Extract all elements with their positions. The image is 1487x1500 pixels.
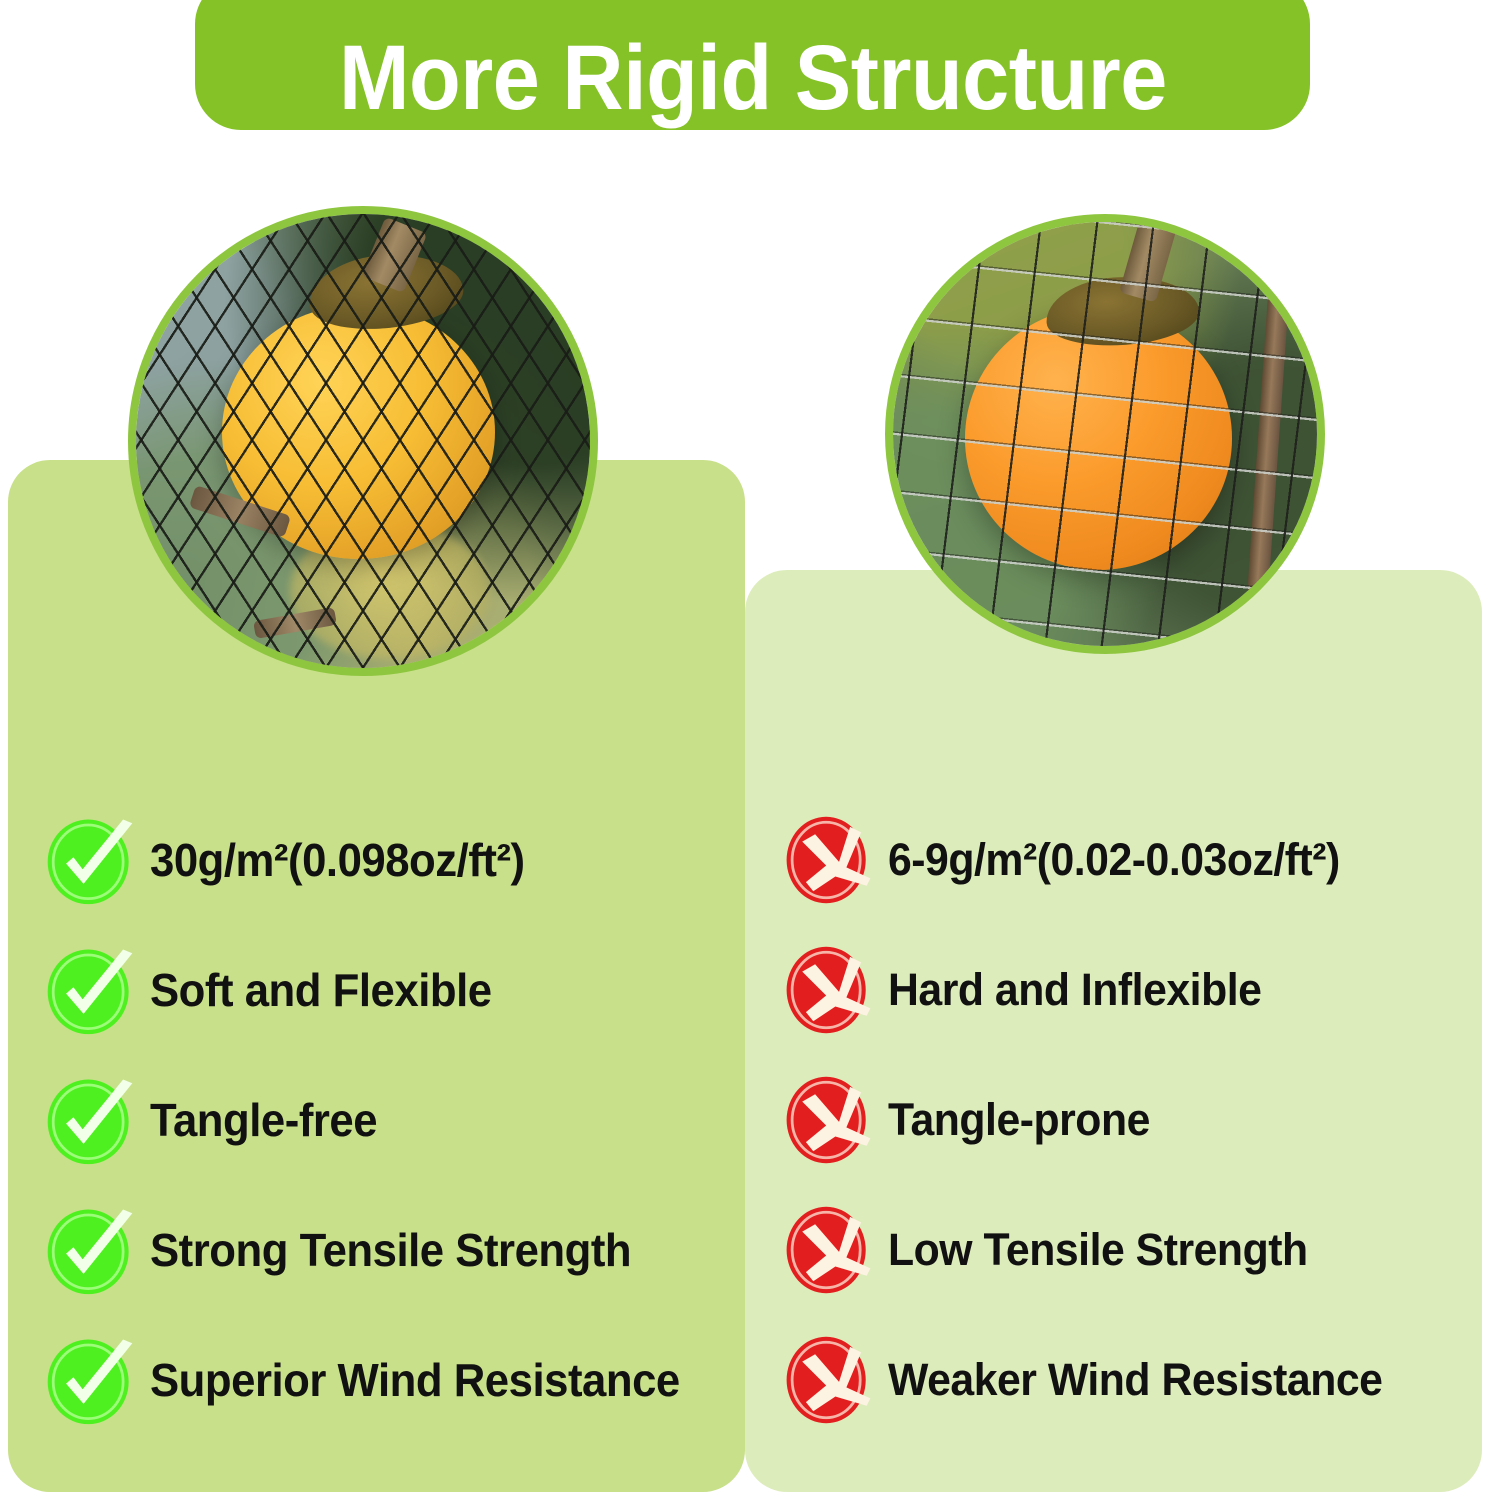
list-item: Soft and Flexible (44, 925, 744, 1055)
photo-right-content (893, 222, 1317, 646)
check-icon (44, 1074, 136, 1166)
cross-icon (782, 1334, 874, 1426)
list-item: Superior Wind Resistance (44, 1315, 744, 1445)
list-item-label: Low Tensile Strength (888, 1224, 1308, 1276)
check-icon (44, 1204, 136, 1296)
list-item: 30g/m²(0.098oz/ft²) (44, 795, 744, 925)
photo-circle-right (885, 214, 1325, 654)
list-item: Tangle-prone (782, 1055, 1482, 1185)
list-item: 6-9g/m²(0.02-0.03oz/ft²) (782, 795, 1482, 925)
list-item-label: Soft and Flexible (150, 963, 492, 1017)
list-item: Tangle-free (44, 1055, 744, 1185)
list-item: Weaker Wind Resistance (782, 1315, 1482, 1445)
list-item: Low Tensile Strength (782, 1185, 1482, 1315)
list-item-label: Tangle-prone (888, 1094, 1150, 1146)
list-item-label: Tangle-free (150, 1093, 377, 1147)
photo-circle-left (128, 206, 598, 676)
check-icon (44, 1334, 136, 1426)
fine-mesh-netting-overlay (136, 214, 590, 668)
list-item-label: 6-9g/m²(0.02-0.03oz/ft²) (888, 834, 1340, 886)
check-icon (44, 814, 136, 906)
check-icon (44, 944, 136, 1036)
list-item-label: Weaker Wind Resistance (888, 1354, 1382, 1406)
list-item: Hard and Inflexible (782, 925, 1482, 1055)
cross-icon (782, 814, 874, 906)
list-item: Strong Tensile Strength (44, 1185, 744, 1315)
advantages-list: 30g/m²(0.098oz/ft²) Soft and Flexible Ta… (44, 795, 744, 1445)
list-item-label: 30g/m²(0.098oz/ft²) (150, 833, 525, 887)
title-banner: More Rigid Structure (195, 0, 1310, 130)
list-item-label: Strong Tensile Strength (150, 1223, 631, 1277)
coarse-mesh-netting-overlay (893, 222, 1317, 646)
page-title: More Rigid Structure (339, 32, 1167, 124)
list-item-label: Superior Wind Resistance (150, 1353, 680, 1407)
photo-left-content (136, 214, 590, 668)
disadvantages-list: 6-9g/m²(0.02-0.03oz/ft²) Hard and Inflex… (782, 795, 1482, 1445)
cross-icon (782, 944, 874, 1036)
cross-icon (782, 1204, 874, 1296)
list-item-label: Hard and Inflexible (888, 964, 1261, 1016)
cross-icon (782, 1074, 874, 1166)
